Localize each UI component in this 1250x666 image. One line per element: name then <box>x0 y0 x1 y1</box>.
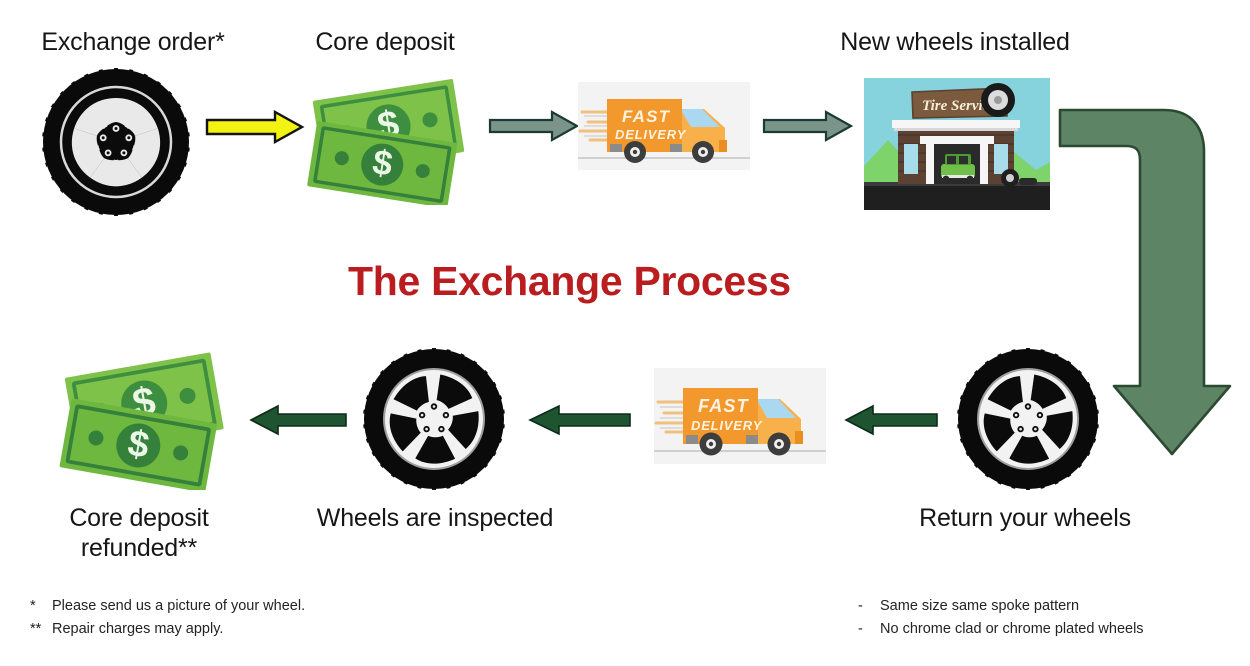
footnote-marker: - <box>858 618 880 641</box>
footnotes-right: -Same size same spoke pattern -No chrome… <box>858 595 1144 642</box>
svg-text:FAST: FAST <box>698 396 750 416</box>
footnote-text: Repair charges may apply. <box>52 621 223 637</box>
step-label-core-deposit: Core deposit <box>275 28 495 58</box>
arrow-return-to-truck <box>843 404 939 436</box>
svg-text:FAST: FAST <box>622 107 671 126</box>
step-label-core-deposit-refunded: Core deposit refunded** <box>30 504 248 563</box>
alloy-wheel-dark-icon <box>36 68 196 216</box>
alloy-wheel-light-icon-inspected <box>358 348 510 490</box>
arrow-order-to-deposit <box>205 110 305 144</box>
footnote-text: No chrome clad or chrome plated wheels <box>880 621 1144 637</box>
exchange-process-diagram: Exchange order* Core deposit New wheels … <box>0 0 1250 666</box>
footnote-marker: - <box>858 595 880 618</box>
arrow-deposit-to-truck <box>488 110 580 142</box>
dollar-bills-icon-refund: $ $ <box>56 350 238 490</box>
dollar-bills-icon: $ $ <box>303 75 479 205</box>
step-label-exchange-order: Exchange order* <box>13 28 253 58</box>
footnote-text: Please send us a picture of your wheel. <box>52 598 305 614</box>
step-label-return-your-wheels: Return your wheels <box>895 504 1155 534</box>
footnote-right-1: -Same size same spoke pattern <box>858 595 1144 618</box>
arrow-truck-to-shop <box>762 110 854 142</box>
svg-text:DELIVERY: DELIVERY <box>691 418 763 433</box>
footnote-left-1: *Please send us a picture of your wheel. <box>30 595 305 618</box>
page-title: The Exchange Process <box>348 258 791 305</box>
refund-label-line2: refunded** <box>81 534 197 562</box>
arrow-truck-to-inspected <box>527 404 632 436</box>
footnote-right-2: -No chrome clad or chrome plated wheels <box>858 618 1144 641</box>
svg-text:DELIVERY: DELIVERY <box>615 127 687 142</box>
footnote-left-2: **Repair charges may apply. <box>30 618 305 641</box>
step-label-wheels-inspected: Wheels are inspected <box>300 504 570 534</box>
footnote-marker: * <box>30 595 52 618</box>
refund-label-line1: Core deposit <box>69 504 208 532</box>
alloy-wheel-light-icon-return <box>952 348 1104 490</box>
arrow-inspected-to-refund <box>248 404 348 436</box>
fast-delivery-truck-icon: FAST DELIVERY <box>578 82 750 170</box>
footnote-text: Same size same spoke pattern <box>880 598 1079 614</box>
footnote-marker: ** <box>30 618 52 641</box>
footnotes-left: *Please send us a picture of your wheel.… <box>30 595 305 642</box>
step-label-new-wheels-installed: New wheels installed <box>800 28 1110 58</box>
tire-service-shop-icon: Tire Service <box>864 78 1050 210</box>
fast-delivery-truck-icon-return: FAST DELIVERY <box>654 368 826 464</box>
